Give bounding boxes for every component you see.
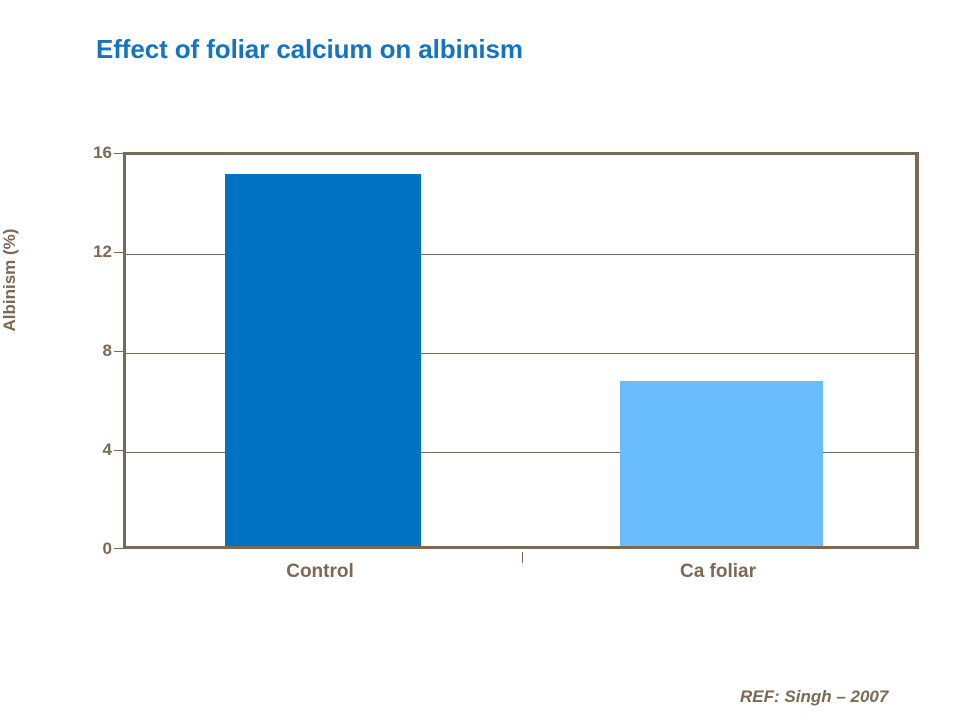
bar-control[interactable] xyxy=(225,174,421,546)
y-tick-label-0: 0 xyxy=(72,540,112,557)
plot-area xyxy=(123,152,919,549)
x-tick-label-control: Control xyxy=(220,561,420,583)
y-axis-title: Albinism (%) xyxy=(0,160,22,400)
y-tick-mark-8 xyxy=(114,351,123,352)
page-title: Effect of foliar calcium on albinism xyxy=(96,34,523,65)
y-tick-label-16: 16 xyxy=(72,144,112,161)
bar-ca-foliar[interactable] xyxy=(620,381,823,546)
x-axis-tick-labels: Control Ca foliar xyxy=(123,561,919,587)
y-tick-mark-16 xyxy=(114,153,123,154)
y-tick-mark-12 xyxy=(114,252,123,253)
plot-inner xyxy=(126,155,915,546)
x-tick-label-ca-foliar: Ca foliar xyxy=(618,561,818,583)
y-axis-tick-labels: 16 12 8 4 0 xyxy=(62,152,112,549)
y-tick-mark-4 xyxy=(114,450,123,451)
y-tick-label-12: 12 xyxy=(72,243,112,260)
y-tick-label-8: 8 xyxy=(72,342,112,359)
reference-note: REF: Singh – 2007 xyxy=(740,687,888,707)
y-tick-mark-0 xyxy=(114,548,123,549)
y-tick-label-4: 4 xyxy=(72,441,112,458)
